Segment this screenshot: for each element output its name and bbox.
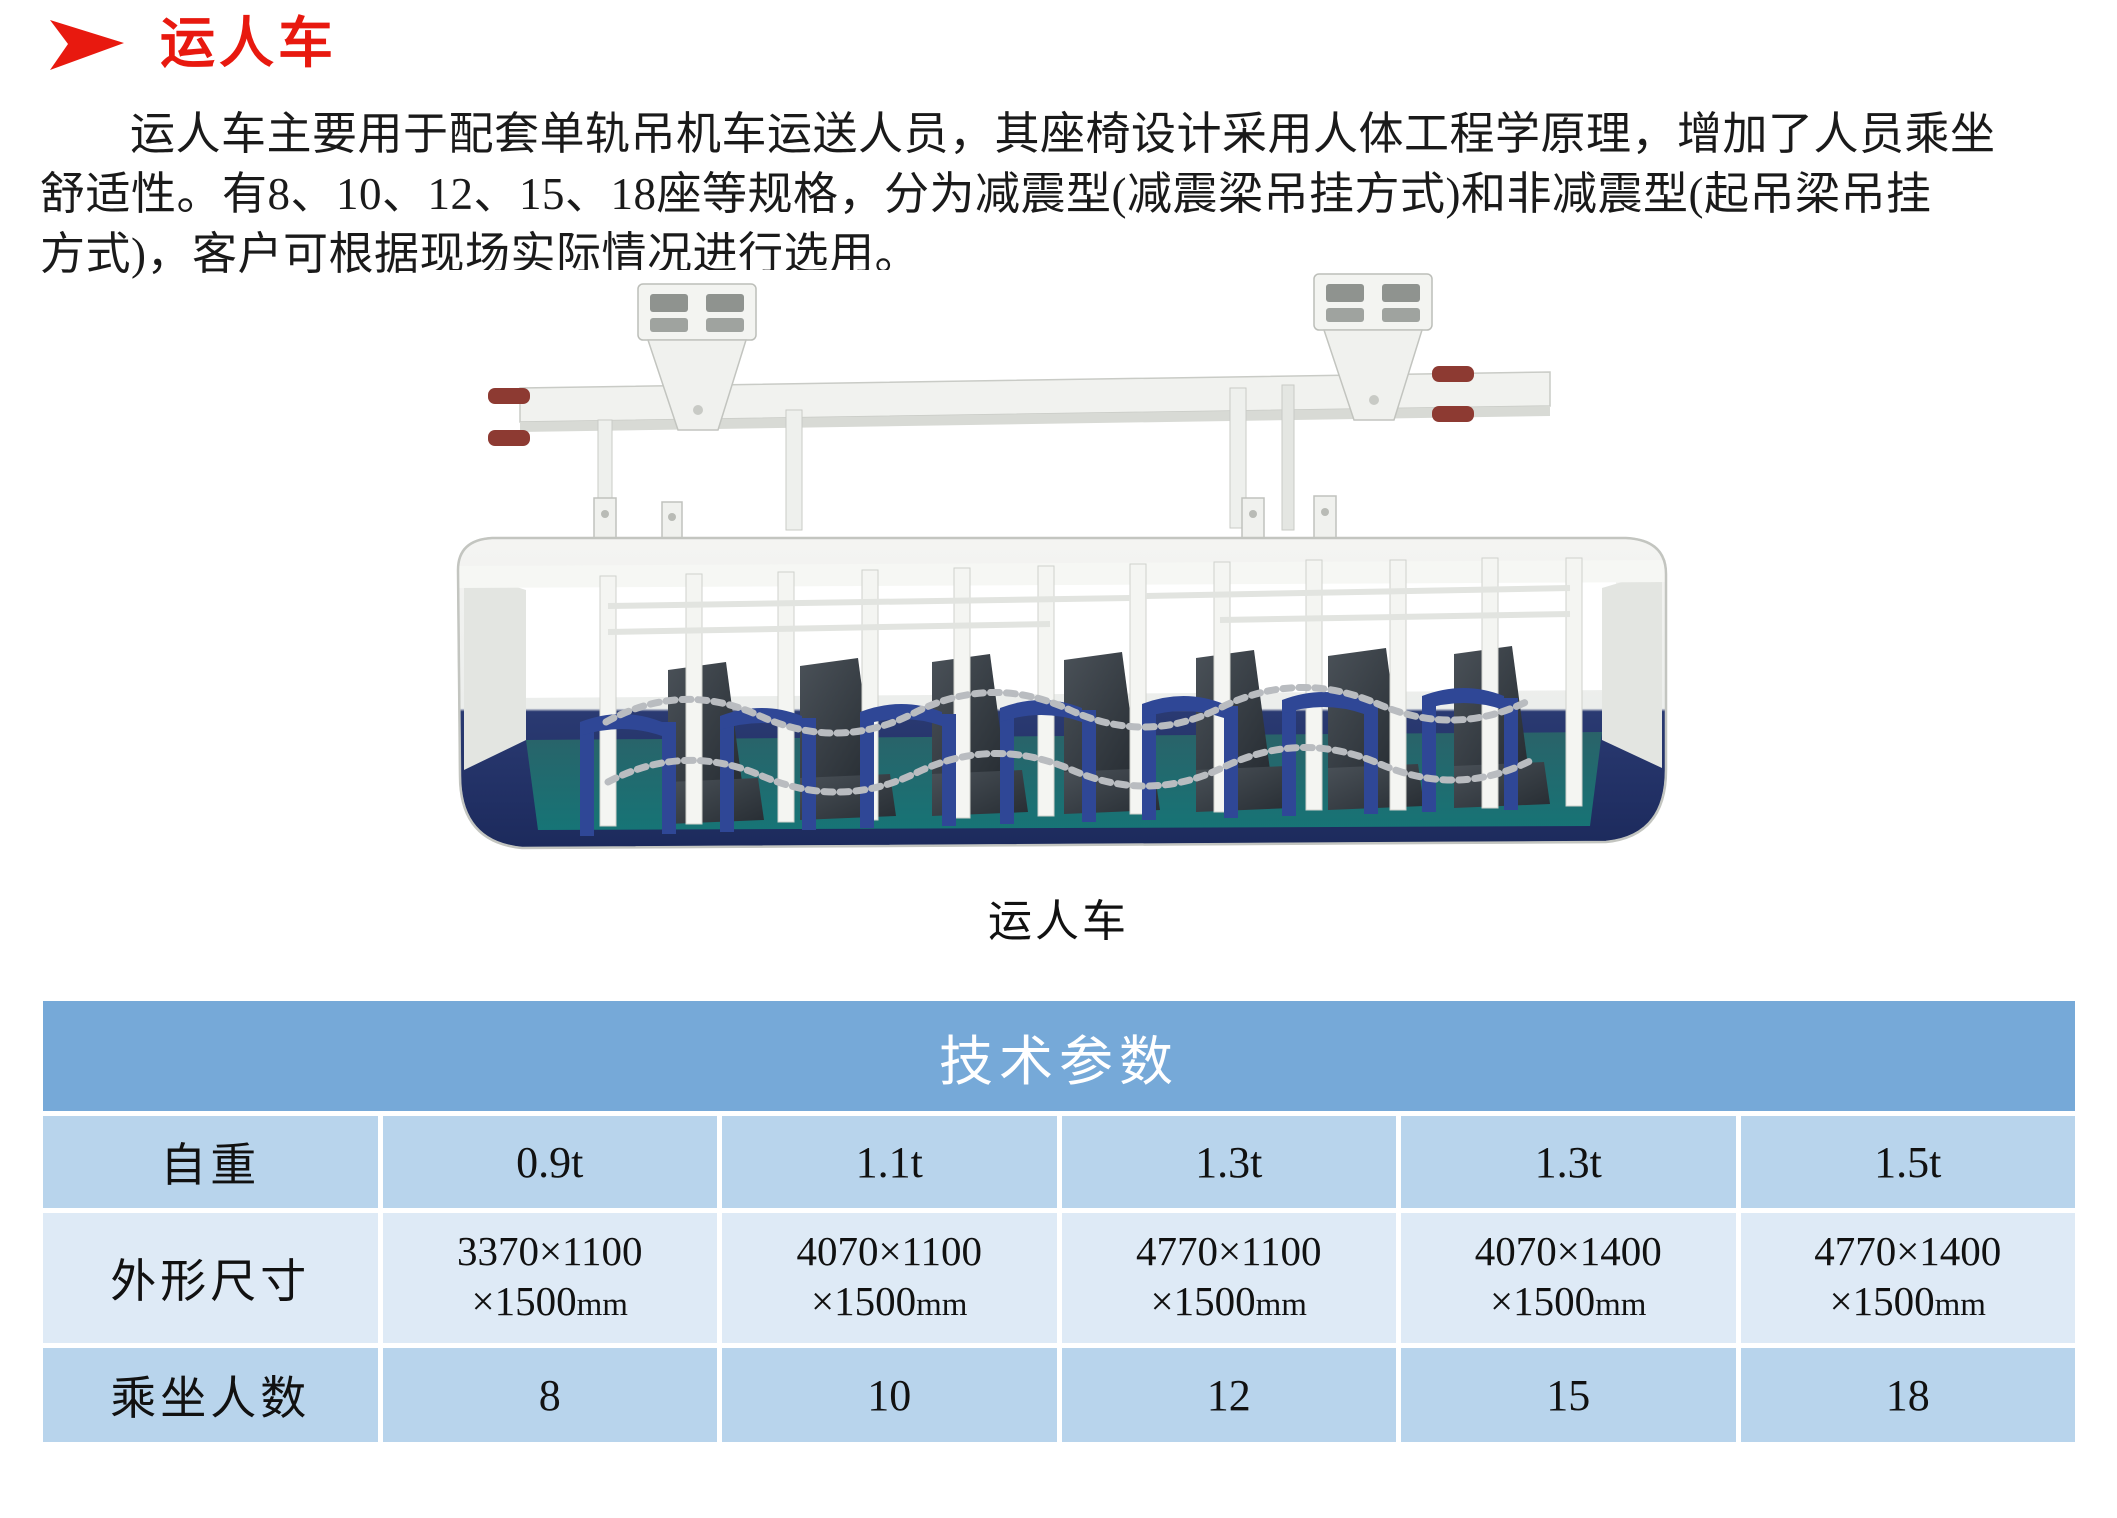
dimensions-value-1: 3370×1100 ×1500mm: [383, 1213, 718, 1343]
capacity-value-4: 15: [1401, 1348, 1736, 1442]
weight-value-2: 1.1t: [722, 1116, 1057, 1208]
dimensions-value-3: 4770×1100 ×1500mm: [1062, 1213, 1397, 1343]
dimensions-value-3-line1: 4770×1100: [1062, 1226, 1397, 1276]
product-photo: [430, 270, 1700, 870]
dimensions-value-5: 4770×1400 ×1500mm: [1741, 1213, 2076, 1343]
dimensions-value-3-line2: ×1500mm: [1062, 1276, 1397, 1330]
dimensions-value-2-line1: 4070×1100: [722, 1226, 1057, 1276]
dimensions-value-1-line1: 3370×1100: [383, 1226, 718, 1276]
body-line-2: 舒适性。有8、10、12、15、18座等规格，分为减震型(减震梁吊挂方式)和非减…: [40, 164, 2080, 224]
page-title: 运人车: [160, 16, 337, 71]
technical-parameters-table: 技术参数 自重 0.9t 1.1t 1.3t 1.3t 1.5t 外形尺寸 33…: [38, 996, 2080, 1447]
dimensions-value-4-line1: 4070×1400: [1401, 1226, 1736, 1276]
row-label-weight: 自重: [43, 1116, 378, 1208]
dimensions-value-5-line2: ×1500mm: [1741, 1276, 2076, 1330]
dimensions-value-5-line1: 4770×1400: [1741, 1226, 2076, 1276]
row-label-dimensions: 外形尺寸: [43, 1213, 378, 1343]
table-row-capacity: 乘坐人数 8 10 12 15 18: [43, 1348, 2075, 1442]
dimensions-value-4-line2: ×1500mm: [1401, 1276, 1736, 1330]
body-line-1-text: 运人车主要用于配套单轨吊机车运送人员，其座椅设计采用人体工程学原理，增加了人员乘…: [130, 109, 1996, 159]
capacity-value-1: 8: [383, 1348, 718, 1442]
right-triangle-marker-icon: [48, 16, 126, 74]
weight-value-4: 1.3t: [1401, 1116, 1736, 1208]
dimensions-value-2: 4070×1100 ×1500mm: [722, 1213, 1057, 1343]
dimensions-value-4: 4070×1400 ×1500mm: [1401, 1213, 1736, 1343]
section-heading: 运人车: [48, 14, 337, 72]
table-row-weight: 自重 0.9t 1.1t 1.3t 1.3t 1.5t: [43, 1116, 2075, 1208]
body-line-1: 运人车主要用于配套单轨吊机车运送人员，其座椅设计采用人体工程学原理，增加了人员乘…: [40, 104, 2080, 164]
capacity-value-2: 10: [722, 1348, 1057, 1442]
dimensions-value-2-line2: ×1500mm: [722, 1276, 1057, 1330]
table-row-dimensions: 外形尺寸 3370×1100 ×1500mm 4070×1100 ×1500mm…: [43, 1213, 2075, 1343]
capacity-value-5: 18: [1741, 1348, 2076, 1442]
table-title: 技术参数: [43, 1001, 2075, 1111]
dimensions-value-1-line2: ×1500mm: [383, 1276, 718, 1330]
figure-caption: 运人车: [0, 885, 2117, 949]
body-paragraph: 运人车主要用于配套单轨吊机车运送人员，其座椅设计采用人体工程学原理，增加了人员乘…: [40, 104, 2080, 284]
row-label-capacity: 乘坐人数: [43, 1348, 378, 1442]
capacity-value-3: 12: [1062, 1348, 1397, 1442]
weight-value-3: 1.3t: [1062, 1116, 1397, 1208]
product-figure: 运人车: [0, 270, 2117, 920]
document-page: 运人车 运人车主要用于配套单轨吊机车运送人员，其座椅设计采用人体工程学原理，增加…: [0, 0, 2117, 1518]
weight-value-1: 0.9t: [383, 1116, 718, 1208]
weight-value-5: 1.5t: [1741, 1116, 2076, 1208]
